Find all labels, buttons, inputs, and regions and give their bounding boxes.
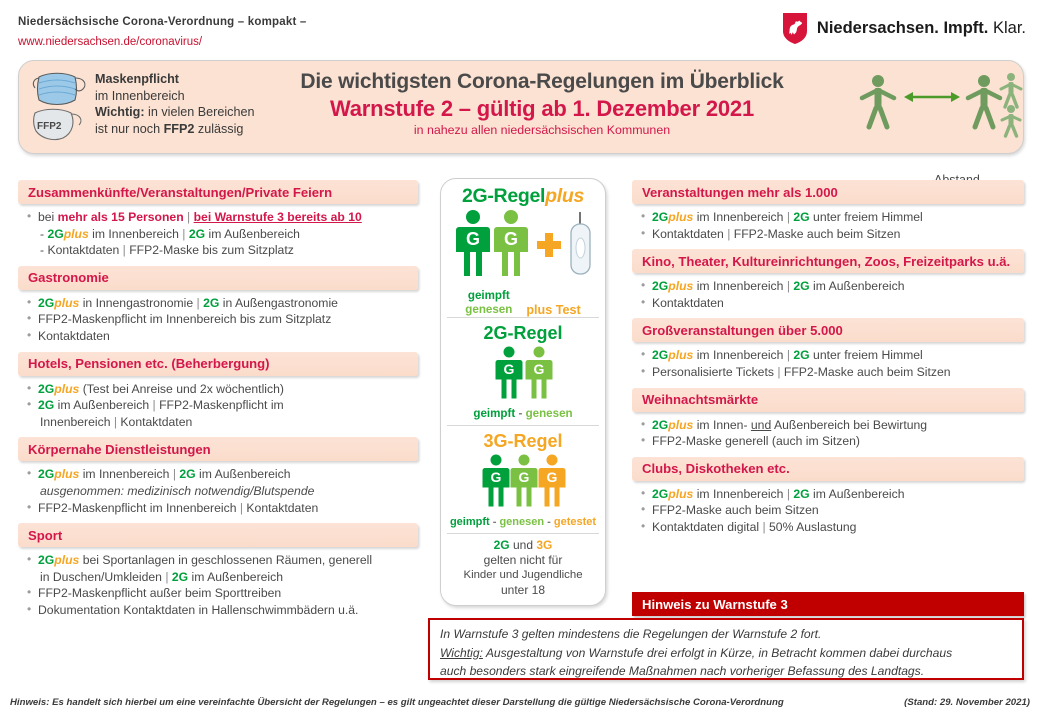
bullet-line: 2Gplus im Innenbereich | 2G im Außenbere… [640, 279, 1018, 295]
warnstufe3-box: In Warnstufe 3 gelten mindestens die Reg… [428, 618, 1024, 680]
figure-getestet-icon: G [539, 455, 566, 507]
legend-3g-title: 3G-Regel [441, 426, 605, 452]
text-fragment: (Test bei Anreise und 2x wöchentlich) [79, 382, 284, 396]
ffp2-mask-icon: FFP2 [34, 109, 81, 139]
legend-3g-cell: 3G-Regel G G G geimpft - genesen - getes… [441, 426, 605, 529]
legend-2gplus-cap-genesen: genesen [465, 303, 512, 317]
warnstufe3-line1: In Warnstufe 3 gelten mindestens die Reg… [440, 626, 1012, 643]
text-fragment: plus [668, 418, 693, 432]
mask-line-1: Maskenpflicht [95, 72, 179, 86]
text-fragment: bei Warnstufe 3 bereits ab 10 [194, 210, 362, 224]
legend-3g-cap-genesen: genesen [499, 516, 544, 528]
text-fragment: Kontaktdaten [120, 415, 192, 429]
svg-text:G: G [519, 469, 530, 485]
text-fragment: im Außenbereich [205, 227, 300, 241]
section-body: 2Gplus im Innen- und Außenbereich bei Be… [632, 412, 1024, 450]
warnstufe3-header: Hinweis zu Warnstufe 3 [632, 592, 1024, 616]
text-fragment: im Innenbereich [693, 210, 787, 224]
text-fragment: 2G [652, 279, 668, 293]
section-body: 2Gplus bei Sportanlagen in geschlossenen… [18, 547, 418, 618]
section-card: Körpernahe Dienstleistungen2Gplus im Inn… [18, 437, 418, 516]
text-fragment: plus [54, 467, 79, 481]
bullet-list: 2Gplus (Test bei Anreise und 2x wöchentl… [26, 382, 412, 431]
legend-3g-cap-getestet: getestet [554, 516, 596, 528]
legend-note-3g: 3G [536, 538, 552, 552]
text-fragment: im Innenbereich [89, 227, 183, 241]
section-card: Zusammenkünfte/Veranstaltungen/Private F… [18, 180, 418, 259]
bullet-line: 2Gplus im Innenbereich | 2G im Außenbere… [26, 467, 412, 483]
text-fragment: Dokumentation Kontaktdaten in Hallenschw… [38, 603, 358, 617]
text-fragment: plus [668, 487, 693, 501]
bullet-list: 2Gplus im Innenbereich | 2G unter freiem… [640, 348, 1018, 380]
section-header[interactable]: Weihnachtsmärkte [632, 388, 1024, 412]
section-body: bei mehr als 15 Personen | bei Warnstufe… [18, 204, 418, 259]
distance-illustration [856, 67, 1026, 139]
text-fragment: FFP2-Maske auch beim Sitzen [734, 227, 901, 241]
legend-2gplus-title-main: 2G-Regel [462, 185, 545, 207]
person-child-lower-icon [1002, 105, 1020, 136]
figure-genesen-icon: G [526, 347, 553, 399]
svg-text:G: G [504, 361, 515, 377]
bullet-line: Innenbereich | Kontaktdaten [26, 415, 412, 431]
bullet-list: 2Gplus im Innenbereich | 2G im Außenbere… [26, 467, 412, 516]
ffp2-badge-text: FFP2 [37, 121, 62, 132]
figure-geimpft-icon: G [456, 210, 490, 276]
section-body: 2Gplus im Innenbereich | 2G im Außenbere… [632, 481, 1024, 536]
text-fragment: 2G [38, 467, 54, 481]
bullet-list: 2Gplus bei Sportanlagen in geschlossenen… [26, 553, 412, 618]
svg-text:G: G [491, 469, 502, 485]
text-fragment: plus [668, 279, 693, 293]
svg-text:G: G [466, 229, 480, 249]
text-fragment: Innenbereich [40, 415, 114, 429]
text-fragment: FFP2-Maskenpflicht außer beim Sporttreib… [38, 586, 281, 600]
person-single-icon [862, 75, 894, 127]
section-header[interactable]: Clubs, Diskotheken etc. [632, 457, 1024, 481]
top-bar: Niedersächsische Corona-Verordnung – kom… [0, 0, 1040, 56]
warnstufe3-line2: Wichtig: Ausgestaltung von Warnstufe dre… [440, 645, 1012, 662]
bullet-line: - 2Gplus im Innenbereich | 2G im Außenbe… [26, 227, 412, 243]
section-body: 2Gplus im Innenbereich | 2G im Außenbere… [632, 273, 1024, 311]
text-fragment: 50% Auslastung [769, 520, 856, 534]
text-fragment: in Innengastronomie [79, 296, 196, 310]
text-fragment: und [751, 418, 771, 432]
bullet-line: 2Gplus im Innenbereich | 2G unter freiem… [640, 348, 1018, 364]
legend-note-line2: gelten nicht für [447, 553, 599, 568]
bullet-line: Kontaktdaten digital | 50% Auslastung [640, 520, 1018, 536]
footer-stand: (Stand: 29. November 2021) [904, 697, 1030, 708]
text-fragment: im Außenbereich [810, 487, 905, 501]
svg-text:G: G [504, 229, 518, 249]
niedersachsen-logo: Niedersachsen. Impft. Klar. [782, 12, 1026, 45]
legend-2g-cell: 2G-Regel G G geimpft - genesen [441, 318, 605, 421]
bullet-line: FFP2-Maskenpflicht im Innenbereich bis z… [26, 312, 412, 328]
mask-important-label: Wichtig: [95, 105, 145, 119]
surgical-mask-icon [33, 73, 85, 104]
text-fragment: 2G [652, 210, 668, 224]
svg-text:G: G [547, 469, 558, 485]
section-header[interactable]: Zusammenkünfte/Veranstaltungen/Private F… [18, 180, 418, 204]
text-fragment: FFP2-Maske auch beim Sitzen [652, 503, 819, 517]
plus-sign-icon [537, 233, 561, 257]
section-card: Großveranstaltungen über 5.0002Gplus im … [632, 318, 1024, 380]
text-fragment: im Innenbereich [693, 348, 787, 362]
legend-2gplus-cell: 2G-Regelplus G G [441, 179, 605, 317]
bullet-line: FFP2-Maskenpflicht im Innenbereich | Kon… [26, 501, 412, 517]
text-fragment: Kontaktdaten [652, 296, 724, 310]
text-fragment: 2G [38, 382, 54, 396]
bullet-list: 2Gplus im Innen- und Außenbereich bei Be… [640, 418, 1018, 450]
text-fragment: unter freiem Himmel [810, 210, 923, 224]
section-card: Kino, Theater, Kultureinrichtungen, Zoos… [632, 249, 1024, 311]
text-fragment: 2G [793, 210, 809, 224]
text-fragment: FFP2-Maske auch beim Sitzen [784, 365, 951, 379]
mask-line-4-post: zulässig [194, 122, 243, 136]
text-fragment: Kontaktdaten digital [652, 520, 762, 534]
text-fragment: FFP2-Maskenpflicht im [159, 398, 284, 412]
bullet-line: 2Gplus im Innen- und Außenbereich bei Be… [640, 418, 1018, 434]
text-fragment: im Innenbereich [693, 279, 787, 293]
warnstufe3-line2-rest: Ausgestaltung von Warnstufe drei erfolgt… [483, 646, 952, 660]
text-fragment: 2G [179, 467, 195, 481]
person-child-upper-icon [1001, 73, 1021, 107]
section-card: Sport2Gplus bei Sportanlagen in geschlos… [18, 523, 418, 618]
legend-3g-figures: G G G [441, 452, 605, 514]
logo-text: Niedersachsen. Impft. Klar. [817, 19, 1026, 38]
figure-geimpft-icon: G [483, 455, 510, 507]
legend-note-line4: unter 18 [447, 583, 599, 598]
text-fragment: plus [54, 296, 79, 310]
section-header[interactable]: Sport [18, 523, 418, 547]
bullet-line: in Duschen/Umkleiden | 2G im Außenbereic… [26, 570, 412, 586]
mask-important-rest: in vielen Bereichen [145, 105, 255, 119]
text-fragment: 2G [652, 348, 668, 362]
text-fragment: im Außenbereich [188, 570, 283, 584]
text-fragment: im Innenbereich [693, 487, 787, 501]
bullet-line: - Kontaktdaten | FFP2-Maske bis zum Sitz… [26, 243, 412, 259]
bullet-line: 2G im Außenbereich | FFP2-Maskenpflicht … [26, 398, 412, 414]
text-fragment: 2G [793, 348, 809, 362]
text-fragment: 2G [47, 227, 63, 241]
text-fragment: FFP2-Maskenpflicht im Innenbereich [38, 501, 240, 515]
text-fragment: im Außenbereich [810, 279, 905, 293]
legend-2gplus-cap-plustest: plus Test [526, 303, 580, 317]
bullet-line: FFP2-Maske generell (auch im Sitzen) [640, 434, 1018, 450]
text-fragment: im Außenbereich [196, 467, 291, 481]
bullet-list: 2Gplus im Innenbereich | 2G im Außenbere… [640, 279, 1018, 311]
section-card: Weihnachtsmärkte2Gplus im Innen- und Auß… [632, 388, 1024, 450]
svg-text:G: G [534, 361, 545, 377]
legend-3g-caption: geimpft - genesen - getestet [441, 515, 605, 529]
legend-2g-figures: G G [441, 344, 605, 406]
figure-geimpft-icon: G [496, 347, 523, 399]
hero-subsubtitle: in nahezu allen niedersächsischen Kommun… [257, 122, 827, 138]
warnstufe3-line2-label: Wichtig: [440, 646, 483, 660]
section-header[interactable]: Kino, Theater, Kultureinrichtungen, Zoos… [632, 249, 1024, 273]
text-fragment: | [184, 210, 194, 224]
text-fragment: im Innenbereich [79, 467, 173, 481]
text-fragment: in Außengastronomie [219, 296, 338, 310]
text-fragment: 2G [38, 553, 54, 567]
legend-note-und: und [510, 538, 537, 552]
text-fragment: plus [668, 348, 693, 362]
text-fragment: FFP2-Maske generell (auch im Sitzen) [652, 434, 860, 448]
bullet-list: 2Gplus im Innenbereich | 2G unter freiem… [640, 210, 1018, 242]
footer-note: Hinweis: Es handelt sich hierbei um eine… [10, 697, 784, 708]
text-fragment: plus [54, 553, 79, 567]
text-fragment: 2G [652, 487, 668, 501]
legend-age-note: 2G und 3G gelten nicht für Kinder und Ju… [441, 534, 605, 598]
bullet-line: 2Gplus (Test bei Anreise und 2x wöchentl… [26, 382, 412, 398]
text-fragment: 2G [172, 570, 188, 584]
mask-line-4-pre: ist nur noch [95, 122, 164, 136]
legend-2gplus-figures: G G [441, 208, 605, 286]
bullet-line: bei mehr als 15 Personen | bei Warnstufe… [26, 210, 412, 226]
mask-line-2: im Innenbereich [95, 89, 185, 103]
website-url-link[interactable]: www.niedersachsen.de/coronavirus/ [18, 36, 202, 48]
text-fragment: Kontaktdaten [652, 227, 727, 241]
mask-icons-group: FFP2 [31, 67, 97, 147]
section-body: 2Gplus im Innenbereich | 2G unter freiem… [632, 342, 1024, 380]
person-adult-icon [968, 75, 1000, 127]
legend-2g-cap-geimpft: geimpft [473, 407, 515, 420]
legend-2gplus-title-italic: plus [545, 185, 584, 207]
legend-note-line3: Kinder und Jugendliche [447, 568, 599, 583]
bullet-list: bei mehr als 15 Personen | bei Warnstufe… [26, 210, 412, 259]
bullet-line: Personalisierte Tickets | FFP2-Maske auc… [640, 365, 1018, 381]
text-fragment: 2G [38, 398, 54, 412]
rules-legend-panel: 2G-Regelplus G G [440, 178, 606, 606]
warnstufe3-line3: auch besonders stark eingreifende Maßnah… [440, 663, 1012, 680]
logo-text-light: Klar. [988, 19, 1026, 37]
mask-requirement-text: Maskenpflicht im Innenbereich Wichtig: i… [95, 71, 275, 137]
text-fragment: FFP2-Maskenpflicht im Innenbereich bis z… [38, 312, 331, 326]
legend-2g-title: 2G-Regel [441, 318, 605, 344]
section-header[interactable]: Körpernahe Dienstleistungen [18, 437, 418, 461]
text-fragment: FFP2-Maske bis zum Sitzplatz [129, 243, 294, 257]
hero-title: Die wichtigsten Corona-Regelungen im Übe… [257, 69, 827, 95]
section-body: 2Gplus (Test bei Anreise und 2x wöchentl… [18, 376, 418, 431]
hero-title-block: Die wichtigsten Corona-Regelungen im Übe… [257, 69, 827, 138]
text-fragment: 2G [793, 487, 809, 501]
section-card: Veranstaltungen mehr als 1.0002Gplus im … [632, 180, 1024, 242]
text-fragment: Kontaktdaten [38, 329, 110, 343]
logo-text-bold: Niedersachsen. Impft. [817, 19, 988, 37]
section-header[interactable]: Veranstaltungen mehr als 1.000 [632, 180, 1024, 204]
text-fragment: bei [38, 210, 58, 224]
text-fragment: mehr als 15 Personen [58, 210, 184, 224]
document-kicker: Niedersächsische Corona-Verordnung – kom… [18, 16, 306, 28]
mask-line-4-bold: FFP2 [164, 122, 195, 136]
text-fragment: ausgenommen: medizinisch notwendig/Bluts… [40, 484, 314, 498]
section-body: 2Gplus im Innenbereich | 2G unter freiem… [632, 204, 1024, 242]
text-fragment: in Duschen/Umkleiden [40, 570, 165, 584]
bullet-line: FFP2-Maskenpflicht außer beim Sporttreib… [26, 586, 412, 602]
section-body: 2Gplus in Innengastronomie | 2G in Außen… [18, 290, 418, 345]
section-card: Gastronomie2Gplus in Innengastronomie | … [18, 266, 418, 345]
section-card: Hotels, Pensionen etc. (Beherbergung)2Gp… [18, 352, 418, 431]
text-fragment: 2G [38, 296, 54, 310]
text-fragment: plus [668, 210, 693, 224]
legend-2g-cap-genesen: genesen [526, 407, 573, 420]
left-column: Zusammenkünfte/Veranstaltungen/Private F… [18, 180, 418, 626]
text-fragment: - Kontaktdaten [40, 243, 123, 257]
section-header[interactable]: Hotels, Pensionen etc. (Beherbergung) [18, 352, 418, 376]
bullet-list: 2Gplus in Innengastronomie | 2G in Außen… [26, 296, 412, 345]
section-header[interactable]: Gastronomie [18, 266, 418, 290]
legend-2g-cap-sep: - [515, 407, 525, 420]
text-fragment: plus [54, 382, 79, 396]
text-fragment: unter freiem Himmel [810, 348, 923, 362]
test-tube-icon [571, 212, 590, 274]
legend-note-2g: 2G [494, 538, 510, 552]
bullet-list: 2Gplus im Innenbereich | 2G im Außenbere… [640, 487, 1018, 536]
bullet-line: 2Gplus im Innenbereich | 2G im Außenbere… [640, 487, 1018, 503]
bullet-line: 2Gplus bei Sportanlagen in geschlossenen… [26, 553, 412, 569]
text-fragment: 2G [793, 279, 809, 293]
saxony-shield-icon [782, 12, 808, 45]
text-fragment: 2G [189, 227, 205, 241]
bullet-line: 2Gplus in Innengastronomie | 2G in Außen… [26, 296, 412, 312]
figure-genesen-icon: G [494, 210, 528, 276]
text-fragment: Kontaktdaten [246, 501, 318, 515]
section-card: Clubs, Diskotheken etc.2Gplus im Innenbe… [632, 457, 1024, 536]
bullet-line: 2Gplus im Innenbereich | 2G unter freiem… [640, 210, 1018, 226]
text-fragment: 2G [652, 418, 668, 432]
hero-subtitle: Warnstufe 2 – gültig ab 1. Dezember 2021 [257, 95, 827, 122]
text-fragment: plus [64, 227, 89, 241]
footer: Hinweis: Es handelt sich hierbei um eine… [10, 697, 1030, 708]
distance-arrow-icon [904, 92, 960, 102]
bullet-line: Kontaktdaten | FFP2-Maske auch beim Sitz… [640, 227, 1018, 243]
section-body: 2Gplus im Innenbereich | 2G im Außenbere… [18, 461, 418, 516]
legend-2g-caption: geimpft - genesen [441, 407, 605, 421]
figure-genesen-icon: G [511, 455, 538, 507]
bullet-line: FFP2-Maske auch beim Sitzen [640, 503, 1018, 519]
bullet-line: Dokumentation Kontaktdaten in Hallenschw… [26, 603, 412, 619]
text-fragment: Außenbereich bei Bewirtung [771, 418, 927, 432]
legend-2gplus-title: 2G-Regelplus [441, 179, 605, 208]
bullet-line: Kontaktdaten [640, 296, 1018, 312]
right-column: Veranstaltungen mehr als 1.0002Gplus im … [632, 180, 1024, 543]
text-fragment: im Innen- [693, 418, 751, 432]
section-header[interactable]: Großveranstaltungen über 5.000 [632, 318, 1024, 342]
bullet-line: ausgenommen: medizinisch notwendig/Bluts… [26, 484, 412, 500]
text-fragment: Personalisierte Tickets [652, 365, 777, 379]
hero-banner: FFP2 Maskenpflicht im Innenbereich Wicht… [18, 60, 1024, 154]
text-fragment: bei Sportanlagen in geschlossenen Räumen… [79, 553, 372, 567]
legend-2gplus-cap-geimpft: geimpft [465, 289, 512, 303]
bullet-line: Kontaktdaten [26, 329, 412, 345]
legend-3g-cap-geimpft: geimpft [450, 516, 490, 528]
text-fragment: 2G [203, 296, 219, 310]
text-fragment: im Außenbereich [54, 398, 152, 412]
